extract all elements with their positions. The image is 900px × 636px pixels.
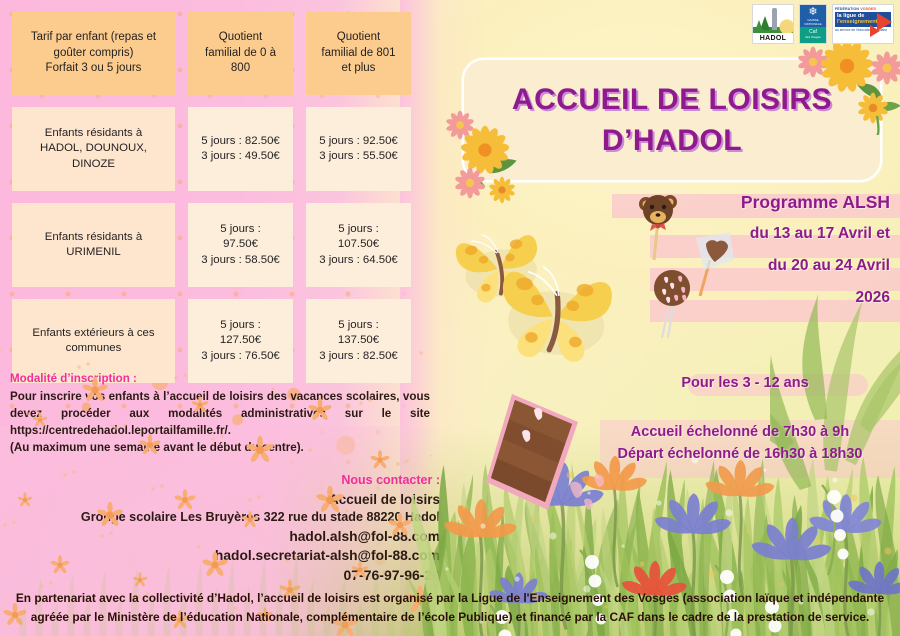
contact-phone[interactable]: 07-76-97-96-26: [40, 566, 440, 586]
header-tarif-l3: Forfait 3 ou 5 jours: [46, 62, 142, 74]
row3-col2-l1: 5 jours :: [220, 319, 261, 331]
pricing-table: Tarif par enfant (repas et goûter compri…: [12, 12, 412, 395]
hadol-tower-icon: [772, 8, 777, 30]
row1-label-l1: Enfants résidants à: [45, 127, 143, 139]
header-qf2-l3: et plus: [342, 62, 376, 74]
inscription-title: Modalité d’inscription :: [10, 370, 430, 387]
inscription-note: (Au maximum une semaine avant le début d…: [10, 439, 430, 456]
program-year: 2026: [560, 289, 890, 307]
row3-label-l1: Enfants extérieurs à ces: [32, 327, 154, 339]
ligue-dept-text: VOSGES: [860, 7, 876, 11]
row2-col3-l3: 3 jours : 64.50€: [319, 254, 398, 266]
caf-logo-dept: des Vosges: [800, 35, 826, 39]
row1-col2: 5 jours : 82.50€ 3 jours : 49.50€: [188, 107, 293, 191]
row3-col2-l2: 127.50€: [220, 334, 261, 346]
header-qf1-l3: 800: [231, 62, 250, 74]
title-line-2: D’HADOL: [602, 120, 742, 161]
row2-col2: 5 jours : 97.50€ 3 jours : 58.50€: [188, 203, 293, 287]
contact-email-secretariat[interactable]: hadol.secretariat-alsh@fol-88.com: [40, 546, 440, 566]
departure-hours: Départ échelonné de 16h30 à 18h30: [590, 444, 890, 466]
row2-col2-l1: 5 jours :: [220, 223, 261, 235]
table-header-cell-qf2: Quotient familial de 801 et plus: [306, 12, 411, 95]
title-card: ACCUEIL DE LOISIRS D’HADOL: [462, 58, 882, 182]
row3-col3-l2: 137.50€: [338, 334, 379, 346]
arrival-hours: Accueil échelonné de 7h30 à 9h: [590, 422, 890, 444]
row2-label-l1: Enfants résidants à: [45, 231, 143, 243]
row2-col3-l2: 107.50€: [338, 238, 379, 250]
contact-address: Groupe scolaire Les Bruyères 322 rue du …: [40, 509, 440, 527]
header-qf2-l2: familial de 801: [321, 47, 395, 59]
table-row: Enfants résidants à URIMENIL 5 jours : 9…: [12, 203, 412, 287]
ligue-title-1: la ligue de: [837, 13, 864, 19]
hours-block: Accueil échelonné de 7h30 à 9h Départ éc…: [590, 422, 890, 466]
row2-col3: 5 jours : 107.50€ 3 jours : 64.50€: [306, 203, 411, 287]
row1-col3-l2: 3 jours : 55.50€: [319, 150, 398, 162]
row3-col3-l1: 5 jours :: [338, 319, 379, 331]
row1-col3: 5 jours : 92.50€ 3 jours : 55.50€: [306, 107, 411, 191]
row3-label-l2: communes: [66, 342, 122, 354]
logo-strip: HADOL ❄ CAISSE NATIONALE Caf des Vosges …: [752, 4, 894, 44]
row2-col2-l3: 3 jours : 58.50€: [201, 254, 280, 266]
contact-title: Nous contacter :: [40, 472, 440, 490]
header-qf1-l1: Quotient: [219, 31, 262, 43]
inscription-block: Modalité d’inscription : Pour inscrire v…: [10, 370, 430, 456]
partnership-line-1: En partenariat avec la collectivité d’Ha…: [12, 589, 888, 607]
contact-block: Nous contacter : Accueil de loisirs Grou…: [40, 472, 440, 586]
row1-col3-l1: 5 jours : 92.50€: [319, 135, 398, 147]
row2-col3-l1: 5 jours :: [338, 223, 379, 235]
hadol-logo: HADOL: [752, 4, 794, 44]
hadol-tree2-icon: [755, 20, 763, 31]
table-header-row: Tarif par enfant (repas et goûter compri…: [12, 12, 412, 95]
ligue-federation-line: FÉDÉRATION VOSGES: [833, 5, 893, 11]
age-range-text: Pour les 3 - 12 ans: [600, 375, 890, 391]
ligue-federation-text: FÉDÉRATION: [835, 7, 859, 11]
row1-label-l3: DINOZE: [72, 158, 115, 170]
snowflake-icon: ❄: [808, 7, 817, 18]
partnership-text: En partenariat avec la collectivité d’Ha…: [0, 589, 900, 626]
program-dates-2: du 20 au 24 Avril: [560, 257, 890, 275]
row1-label: Enfants résidants à HADOL, DOUNOUX, DINO…: [12, 107, 175, 191]
row3-col3-l3: 3 jours : 82.50€: [319, 350, 398, 362]
header-qf1-l2: familial de 0 à: [205, 47, 276, 59]
table-header-cell-qf1: Quotient familial de 0 à 800: [188, 12, 293, 95]
row2-label: Enfants résidants à URIMENIL: [12, 203, 175, 287]
header-tarif-l2: goûter compris): [54, 47, 134, 59]
arrow-small-icon: [870, 25, 880, 37]
caf-logo-badge: Caf des Vosges: [800, 27, 826, 43]
row1-col2-l1: 5 jours : 82.50€: [201, 135, 280, 147]
program-dates-1: du 13 au 17 Avril et: [560, 225, 890, 243]
contact-email-primary[interactable]: hadol.alsh@fol-88.com: [40, 527, 440, 547]
header-tarif-l1: Tarif par enfant (repas et: [31, 31, 156, 43]
caf-logo-subtext: CAISSE NATIONALE: [800, 19, 826, 26]
contact-name: Accueil de loisirs: [40, 490, 440, 509]
program-heading: Programme ALSH: [560, 192, 890, 213]
program-block: Programme ALSH du 13 au 17 Avril et du 2…: [560, 192, 890, 307]
caf-logo: ❄ CAISSE NATIONALE Caf des Vosges: [799, 4, 827, 44]
row1-col2-l2: 3 jours : 49.50€: [201, 150, 280, 162]
table-row: Enfants résidants à HADOL, DOUNOUX, DINO…: [12, 107, 412, 191]
page-title: ACCUEIL DE LOISIRS D’HADOL: [464, 60, 880, 180]
ligue-enseignement-logo: FÉDÉRATION VOSGES la ligue de l'enseigne…: [832, 4, 894, 44]
row2-col2-l2: 97.50€: [223, 238, 258, 250]
table-header-cell-tarif: Tarif par enfant (repas et goûter compri…: [12, 12, 175, 95]
partnership-line-2: agréée par le Ministère de l’éducation N…: [12, 608, 888, 626]
poster-root: HADOL ❄ CAISSE NATIONALE Caf des Vosges …: [0, 0, 900, 636]
inscription-body: Pour inscrire vos enfants à l’accueil de…: [10, 388, 430, 439]
hadol-logo-text: HADOL: [753, 35, 793, 42]
row1-label-l2: HADOL, DOUNOUX,: [40, 142, 147, 154]
title-line-1: ACCUEIL DE LOISIRS: [512, 79, 832, 120]
row2-label-l2: URIMENIL: [66, 246, 120, 258]
header-qf2-l1: Quotient: [337, 31, 380, 43]
row3-col2-l3: 3 jours : 76.50€: [201, 350, 280, 362]
